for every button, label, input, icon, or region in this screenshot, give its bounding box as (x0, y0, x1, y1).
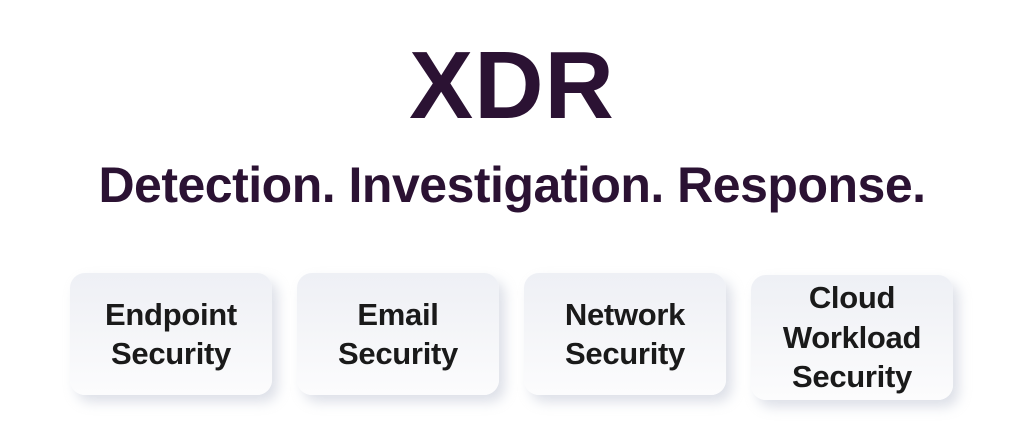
capability-card-email-security[interactable]: Email Security (297, 273, 499, 395)
page-subtitle: Detection. Investigation. Response. (0, 160, 1024, 210)
capability-card-label: Cloud Workload Security (783, 278, 921, 396)
capability-card-label: Endpoint Security (105, 295, 237, 374)
capability-card-label: Network Security (565, 295, 685, 374)
capability-card-row: Endpoint Security Email Security Network… (70, 273, 954, 400)
xdr-hero-banner: XDR Detection. Investigation. Response. … (0, 0, 1024, 445)
page-title: XDR (0, 38, 1024, 134)
capability-card-label: Email Security (338, 295, 458, 374)
capability-card-network-security[interactable]: Network Security (524, 273, 726, 395)
capability-card-endpoint-security[interactable]: Endpoint Security (70, 273, 272, 395)
capability-card-cloud-workload-security[interactable]: Cloud Workload Security (751, 275, 953, 400)
